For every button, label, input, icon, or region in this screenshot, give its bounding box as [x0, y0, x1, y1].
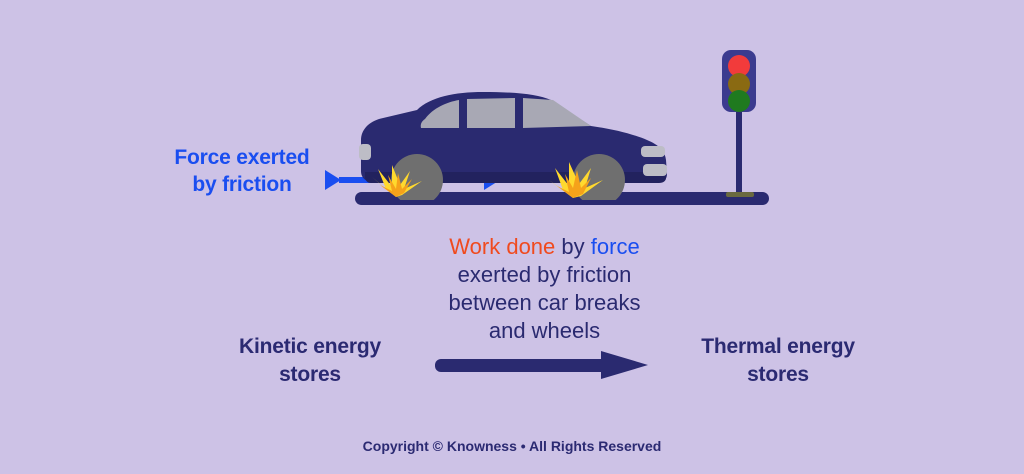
thermal-energy-stores-label: Thermal energy stores — [664, 333, 892, 388]
green-light — [728, 90, 750, 112]
traffic-light-pole — [736, 106, 742, 198]
work-done-line3: between car breaks — [392, 289, 697, 317]
transfer-arrow-shaft — [435, 359, 613, 372]
car-window-front — [467, 98, 515, 128]
kinetic-store-line1: Kinetic energy — [206, 333, 414, 361]
car-front-bumper — [643, 164, 667, 176]
friction-force-label: Force exerted by friction — [152, 144, 332, 199]
car-headlight — [641, 146, 665, 157]
by-word: by — [561, 234, 584, 259]
kinetic-store-line2: stores — [206, 361, 414, 389]
energy-transfer-arrow — [435, 350, 653, 380]
thermal-store-line1: Thermal energy — [664, 333, 892, 361]
front-wheel-sparks — [545, 160, 607, 204]
traffic-light — [700, 48, 780, 198]
work-done-line1: Work done by force — [392, 233, 697, 261]
work-done-description: Work done by force exerted by friction b… — [392, 233, 697, 346]
friction-label-line2: by friction — [152, 171, 332, 198]
kinetic-energy-stores-label: Kinetic energy stores — [206, 333, 414, 388]
copyright-footer: Copyright © Knowness • All Rights Reserv… — [0, 438, 1024, 454]
friction-label-line1: Force exerted — [152, 144, 332, 171]
work-done-phrase: Work done — [449, 234, 555, 259]
force-word: force — [591, 234, 640, 259]
thermal-store-line2: stores — [664, 361, 892, 389]
car-window-rear — [523, 98, 591, 128]
traffic-light-base — [726, 192, 754, 197]
work-done-line2: exerted by friction — [392, 261, 697, 289]
transfer-arrow-head — [601, 351, 648, 379]
diagram-canvas: Force exerted by friction — [0, 0, 1024, 474]
car-rear-light — [359, 144, 371, 160]
rear-wheel-sparks — [366, 163, 428, 203]
work-done-line4: and wheels — [392, 317, 697, 345]
